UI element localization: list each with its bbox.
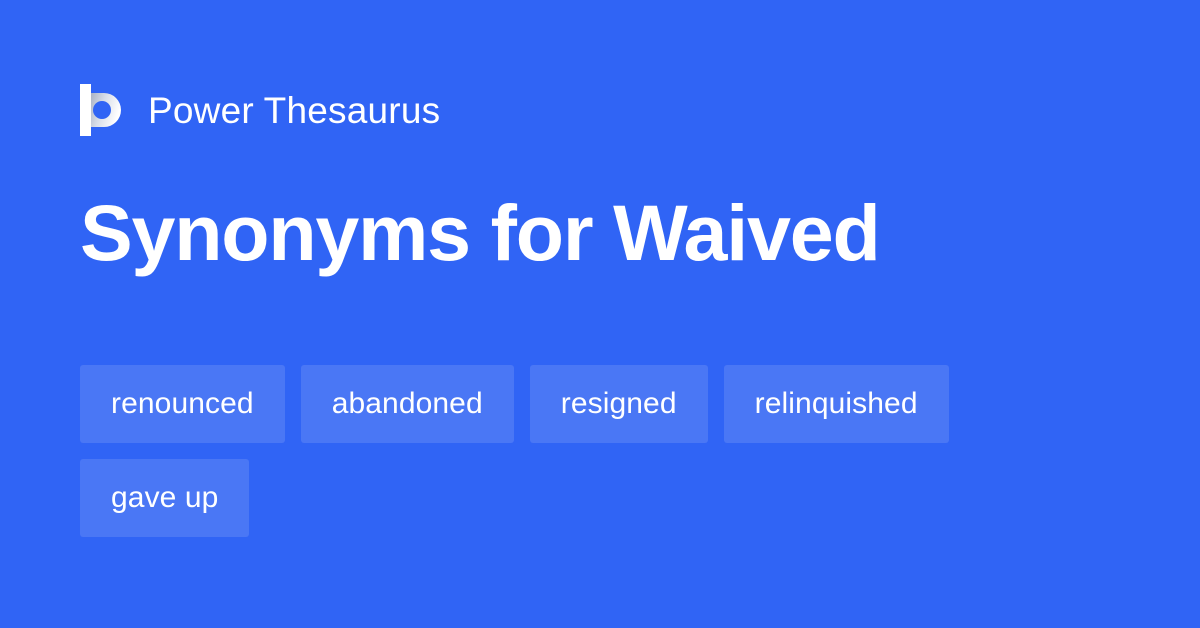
brand-logo[interactable]: Power Thesaurus	[80, 80, 440, 140]
share-card: Power Thesaurus Synonyms for Waived reno…	[0, 0, 1200, 628]
synonym-chip[interactable]: gave up	[80, 459, 249, 537]
page-title: Synonyms for Waived	[80, 192, 880, 275]
synonym-chip[interactable]: resigned	[530, 365, 708, 443]
synonym-list: renounced abandoned resigned relinquishe…	[80, 365, 1130, 537]
synonym-chip[interactable]: abandoned	[301, 365, 514, 443]
synonym-chip[interactable]: relinquished	[724, 365, 949, 443]
power-thesaurus-b-logo-icon	[80, 84, 124, 136]
synonym-chip[interactable]: renounced	[80, 365, 285, 443]
brand-name: Power Thesaurus	[148, 92, 440, 129]
